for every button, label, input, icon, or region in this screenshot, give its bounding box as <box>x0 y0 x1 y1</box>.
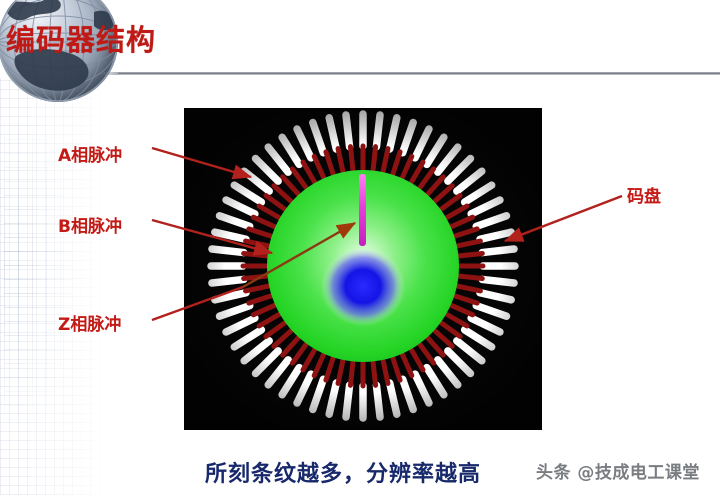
callout-label-a-phase: A相脉冲 <box>58 141 122 166</box>
encoder-code-disc-photo <box>184 108 542 430</box>
watermark-text: 头条 @技成电工课堂 <box>536 458 700 483</box>
callout-label-z-phase: Z相脉冲 <box>58 310 121 335</box>
figure-caption: 所刻条纹越多，分辨率越高 <box>205 456 481 488</box>
callout-label-b-phase: B相脉冲 <box>58 212 122 237</box>
page-title: 编码器结构 <box>6 17 156 59</box>
encoder-disc-graphic <box>184 108 542 430</box>
header-divider <box>118 72 720 75</box>
callout-label-code-disc: 码盘 <box>627 182 661 207</box>
slide-canvas: 编码器结构 <box>0 0 720 495</box>
